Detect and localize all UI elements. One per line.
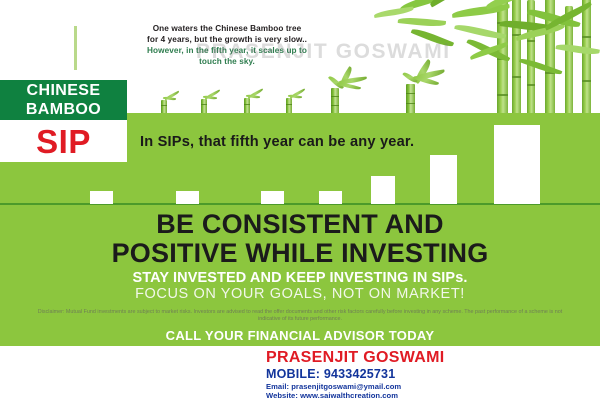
- chart-bar-year-3: [261, 191, 284, 204]
- chart-bar-year-6: [430, 155, 457, 204]
- quote-line-4: touch the sky.: [82, 57, 372, 68]
- chinese-bamboo-badge: CHINESE BAMBOO: [0, 80, 127, 120]
- chart-bar-year-5: [371, 176, 395, 204]
- subhead-line-2: FOCUS ON YOUR GOALS, NOT ON MARKET!: [0, 286, 600, 303]
- quote-line-1: One waters the Chinese Bamboo tree: [82, 24, 372, 35]
- sip-tagline: In SIPs, that fifth year can be any year…: [140, 134, 414, 150]
- call-advisor-cta: CALL YOUR FINANCIAL ADVISOR TODAY: [0, 328, 600, 343]
- chart-bar-year-1: [90, 191, 113, 204]
- main-headline: BE CONSISTENT AND POSITIVE WHILE INVESTI…: [0, 210, 600, 268]
- sip-badge-label: SIP: [36, 125, 91, 158]
- chart-bar-year-2: [176, 191, 199, 204]
- quote-accent-bar: [74, 26, 77, 70]
- quote-line-2: for 4 years, but the growth is very slow…: [82, 35, 372, 46]
- subhead-line-1: STAY INVESTED AND KEEP INVESTING IN SIPs…: [0, 270, 600, 286]
- headline-line-2: POSITIVE WHILE INVESTING: [0, 239, 600, 268]
- sip-badge: SIP: [0, 120, 127, 162]
- badge-line-2: BAMBOO: [26, 100, 101, 119]
- quote-block: One waters the Chinese Bamboo tree for 4…: [82, 24, 372, 68]
- advisor-name: PRASENJIT GOSWAMI: [266, 349, 596, 367]
- advisor-email[interactable]: Email: prasenjitgoswami@ymail.com: [266, 382, 596, 391]
- chart-bar-year-4: [319, 191, 342, 204]
- chart-bar-year-7: [494, 125, 540, 204]
- contact-block: PRASENJIT GOSWAMI MOBILE: 9433425731 Ema…: [266, 349, 596, 400]
- poster-canvas: One waters the Chinese Bamboo tree for 4…: [0, 0, 600, 400]
- disclaimer-text: Disclaimer: Mutual Fund investments are …: [28, 309, 572, 323]
- headline-line-1: BE CONSISTENT AND: [0, 210, 600, 239]
- quote-line-3: However, in the fifth year, it scales up…: [82, 46, 372, 57]
- badge-line-1: CHINESE: [27, 81, 101, 100]
- sub-headline: STAY INVESTED AND KEEP INVESTING IN SIPs…: [0, 270, 600, 303]
- advisor-website[interactable]: Website: www.saiwalthcreation.com: [266, 391, 596, 400]
- advisor-mobile[interactable]: MOBILE: 9433425731: [266, 367, 596, 382]
